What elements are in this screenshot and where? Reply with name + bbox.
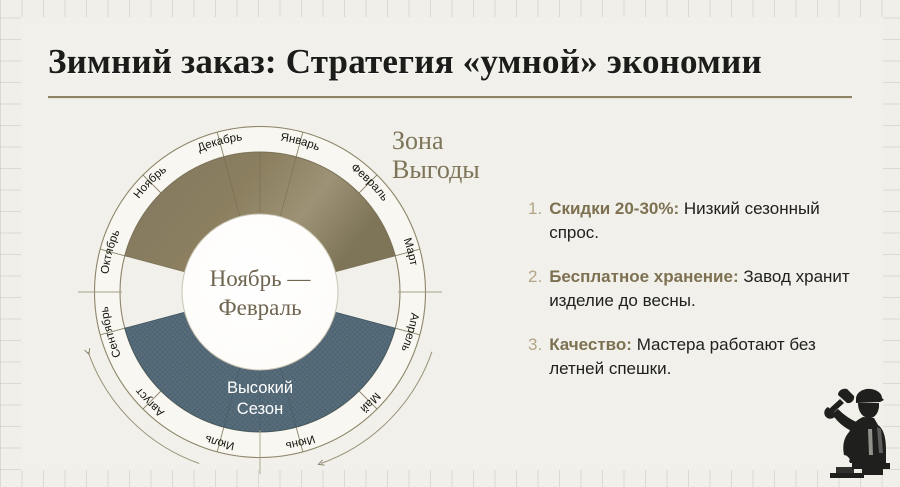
slide-content: Зимний заказ: Стратегия «умной» экономии — [0, 0, 900, 487]
season-wheel: Октябрь Ноябрь Декабрь Январь Февраль Ма… — [78, 110, 442, 474]
list-item-number: 2. — [528, 265, 542, 289]
benefit-zone-label: Зона Выгоды — [392, 126, 480, 184]
list-item: 2. Бесплатное хранение: Завод хранит изд… — [528, 265, 858, 312]
high-season-label-line2: Сезон — [237, 400, 283, 418]
page-title: Зимний заказ: Стратегия «умной» экономии — [48, 42, 762, 82]
blacksmith-icon — [806, 383, 898, 479]
list-item-heading: Скидки 20-30%: — [549, 199, 679, 218]
list-item-text: Скидки 20-30%: Низкий сезонный спрос. — [549, 197, 858, 244]
wheel-core — [182, 214, 338, 370]
title-divider — [48, 96, 852, 99]
wheel-center-label-line2: Февраль — [218, 295, 301, 320]
list-item-number: 3. — [528, 333, 542, 357]
list-item-text: Качество: Мастера работают без летней сп… — [549, 333, 858, 380]
high-season-label-line1: Высокий — [227, 379, 293, 397]
list-item-number: 1. — [528, 197, 542, 221]
list-item: 3. Качество: Мастера работают без летней… — [528, 333, 858, 380]
list-item-heading: Качество: — [549, 335, 632, 354]
benefits-list: 1. Скидки 20-30%: Низкий сезонный спрос.… — [528, 197, 858, 401]
list-item: 1. Скидки 20-30%: Низкий сезонный спрос. — [528, 197, 858, 244]
wheel-center-label-line1: Ноябрь — — [210, 266, 312, 291]
list-item-text: Бесплатное хранение: Завод хранит издели… — [549, 265, 858, 312]
list-item-heading: Бесплатное хранение: — [549, 267, 738, 286]
